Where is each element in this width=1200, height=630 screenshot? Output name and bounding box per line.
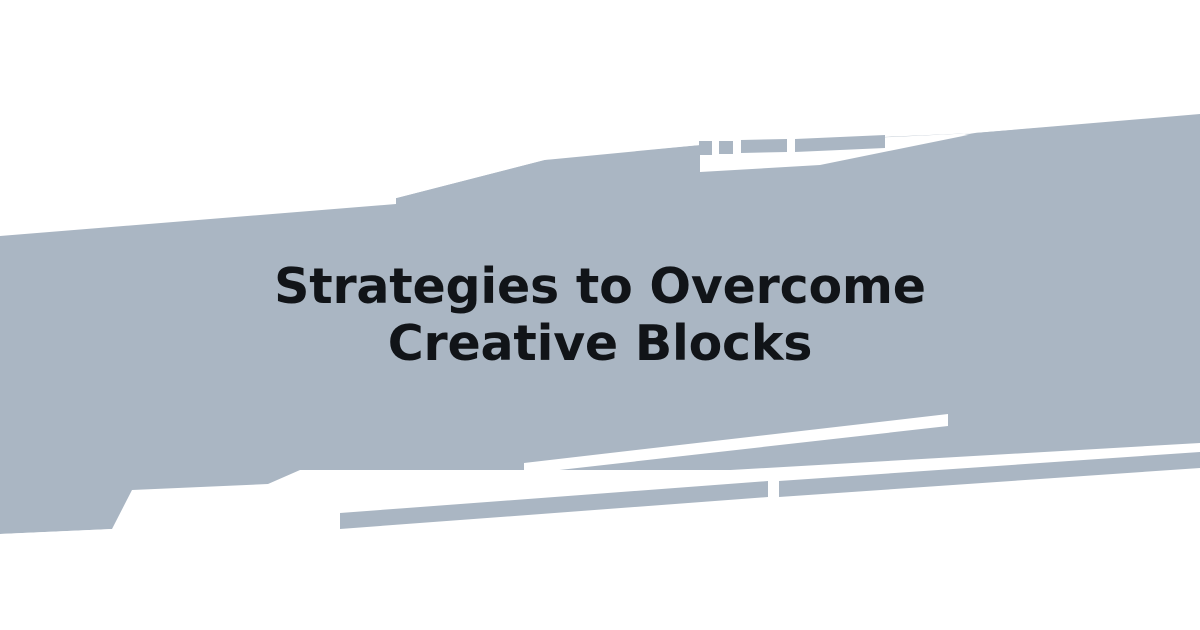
dash-mark-1 [699,141,712,155]
dash-mark-3 [741,139,787,153]
decorative-artwork [0,0,1200,630]
article-header-banner: Strategies to Overcome Creative Blocks [0,0,1200,630]
dash-mark-2 [719,141,733,154]
